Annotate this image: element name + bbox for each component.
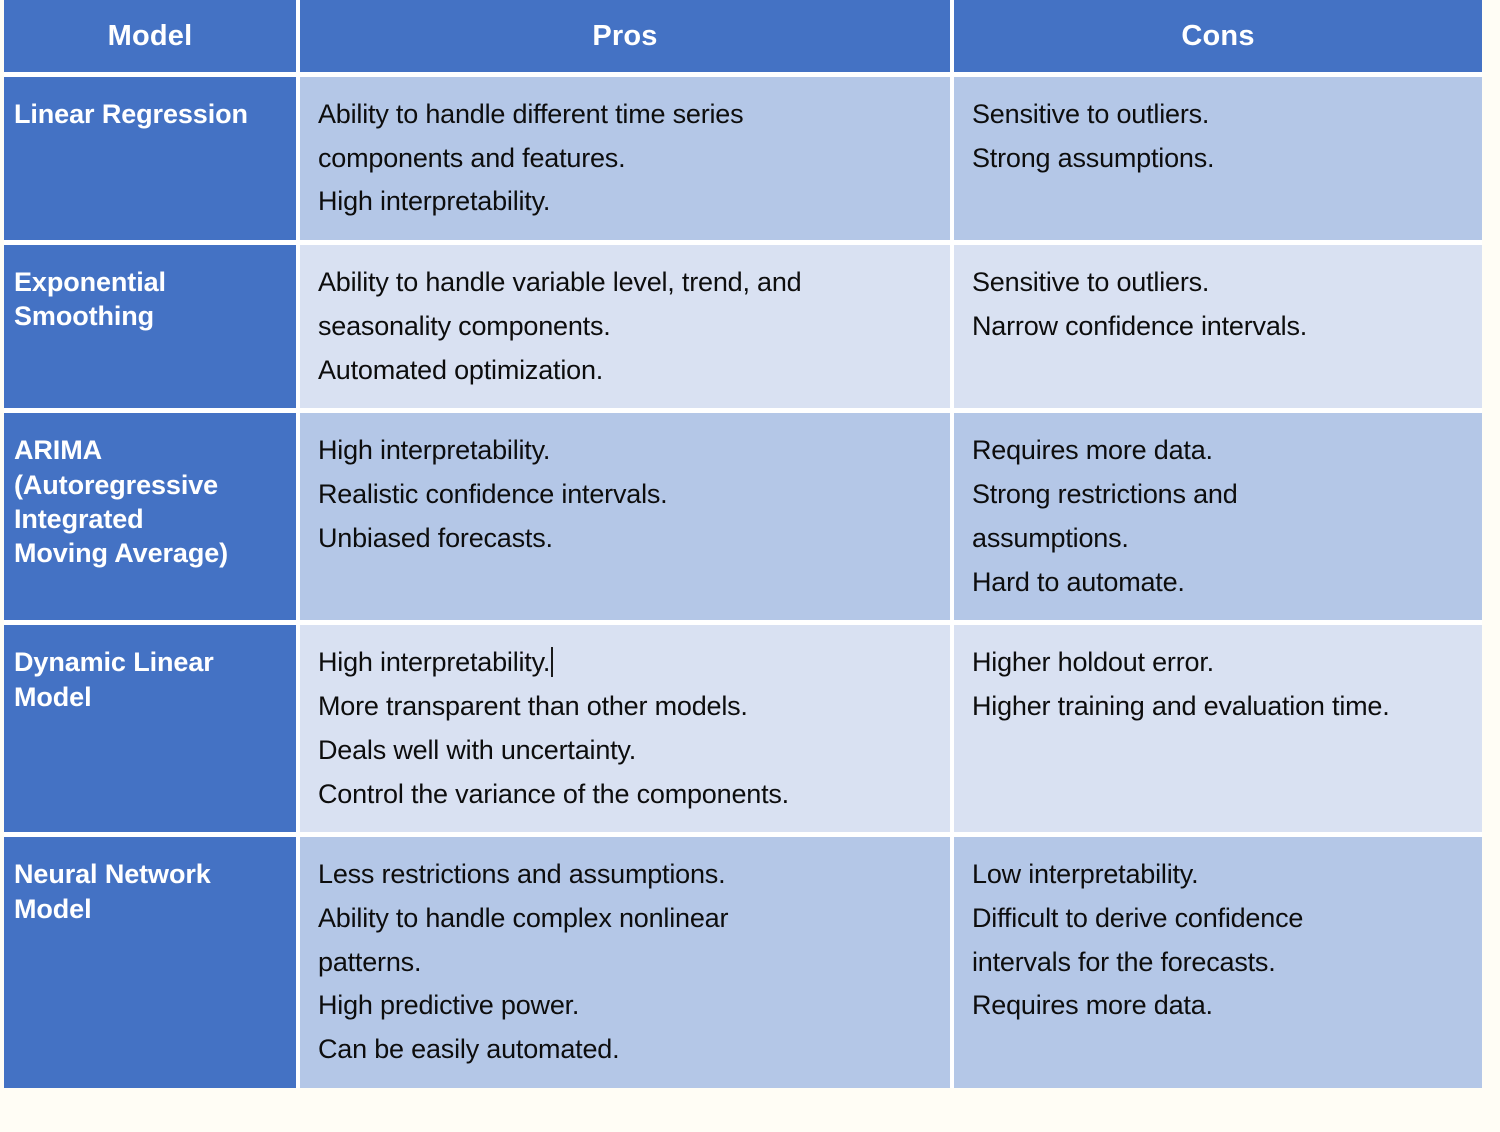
pros-cell[interactable]: Ability to handle variable level, trend,…: [300, 245, 954, 413]
pros-line: Ability to handle complex nonlinear: [318, 897, 936, 941]
model-name-line: Smoothing: [14, 299, 286, 333]
column-header-pros: Pros: [300, 0, 954, 77]
pros-line: More transparent than other models.: [318, 685, 936, 729]
pros-line: High interpretability.: [318, 429, 936, 473]
cons-line: assumptions.: [972, 517, 1468, 561]
column-header-cons: Cons: [954, 0, 1482, 77]
pros-cell[interactable]: High interpretability.More transparent t…: [300, 625, 954, 837]
cons-line: Hard to automate.: [972, 561, 1468, 605]
cons-line: intervals for the forecasts.: [972, 941, 1468, 985]
pros-cell[interactable]: High interpretability.Realistic confiden…: [300, 413, 954, 625]
pros-line: Realistic confidence intervals.: [318, 473, 936, 517]
cons-line: Requires more data.: [972, 429, 1468, 473]
cons-line: Strong restrictions and: [972, 473, 1468, 517]
table-row: ARIMA(AutoregressiveIntegratedMoving Ave…: [4, 413, 1482, 625]
model-name-line: Linear Regression: [14, 97, 286, 131]
model-name-cell: Neural NetworkModel: [4, 837, 300, 1088]
cons-cell[interactable]: Requires more data.Strong restrictions a…: [954, 413, 1482, 625]
model-comparison-table: Model Pros Cons Linear RegressionAbility…: [4, 0, 1482, 1088]
cons-line: Sensitive to outliers.: [972, 93, 1468, 137]
pros-line: Control the variance of the components.: [318, 773, 936, 817]
model-name-line: (Autoregressive: [14, 468, 286, 502]
cons-line: Higher training and evaluation time.: [972, 685, 1468, 729]
pros-line: Unbiased forecasts.: [318, 517, 936, 561]
cons-cell[interactable]: Sensitive to outliers.Narrow confidence …: [954, 245, 1482, 413]
pros-cell[interactable]: Less restrictions and assumptions.Abilit…: [300, 837, 954, 1088]
cons-line: Requires more data.: [972, 984, 1468, 1028]
model-name-cell: Linear Regression: [4, 77, 300, 245]
cons-cell[interactable]: Higher holdout error.Higher training and…: [954, 625, 1482, 837]
table-row: Dynamic LinearModelHigh interpretability…: [4, 625, 1482, 837]
table-body: Linear RegressionAbility to handle diffe…: [4, 77, 1482, 1088]
table-row: Linear RegressionAbility to handle diffe…: [4, 77, 1482, 245]
pros-line: patterns.: [318, 941, 936, 985]
cons-line: Sensitive to outliers.: [972, 261, 1468, 305]
table-header-row: Model Pros Cons: [4, 0, 1482, 77]
cons-line: Strong assumptions.: [972, 137, 1468, 181]
pros-line: Can be easily automated.: [318, 1028, 936, 1072]
pros-line: Deals well with uncertainty.: [318, 729, 936, 773]
cons-line: Narrow confidence intervals.: [972, 305, 1468, 349]
pros-line: High interpretability.: [318, 641, 936, 685]
column-header-model: Model: [4, 0, 300, 77]
model-name-cell: Dynamic LinearModel: [4, 625, 300, 837]
pros-line: components and features.: [318, 137, 936, 181]
pros-line: Less restrictions and assumptions.: [318, 853, 936, 897]
model-name-line: Dynamic Linear: [14, 645, 286, 679]
pros-line: High predictive power.: [318, 984, 936, 1028]
pros-line: seasonality components.: [318, 305, 936, 349]
model-name-line: Model: [14, 680, 286, 714]
model-name-cell: ARIMA(AutoregressiveIntegratedMoving Ave…: [4, 413, 300, 625]
cons-line: Low interpretability.: [972, 853, 1468, 897]
pros-line: Ability to handle variable level, trend,…: [318, 261, 936, 305]
pros-cell[interactable]: Ability to handle different time seriesc…: [300, 77, 954, 245]
table-header: Model Pros Cons: [4, 0, 1482, 77]
cons-line: Difficult to derive confidence: [972, 897, 1468, 941]
cons-line: Higher holdout error.: [972, 641, 1468, 685]
table-row: ExponentialSmoothingAbility to handle va…: [4, 245, 1482, 413]
pros-line: High interpretability.: [318, 180, 936, 224]
model-name-line: Neural Network: [14, 857, 286, 891]
table-row: Neural NetworkModelLess restrictions and…: [4, 837, 1482, 1088]
cons-cell[interactable]: Low interpretability.Difficult to derive…: [954, 837, 1482, 1088]
model-name-line: Exponential: [14, 265, 286, 299]
pros-line: Ability to handle different time series: [318, 93, 936, 137]
model-name-line: Integrated: [14, 502, 286, 536]
pros-line: Automated optimization.: [318, 349, 936, 393]
model-name-line: Model: [14, 892, 286, 926]
text-cursor-caret: [551, 647, 553, 677]
model-name-cell: ExponentialSmoothing: [4, 245, 300, 413]
model-name-line: ARIMA: [14, 433, 286, 467]
model-name-line: Moving Average): [14, 536, 286, 570]
cons-cell[interactable]: Sensitive to outliers.Strong assumptions…: [954, 77, 1482, 245]
comparison-table-container: Model Pros Cons Linear RegressionAbility…: [4, 0, 1482, 1132]
